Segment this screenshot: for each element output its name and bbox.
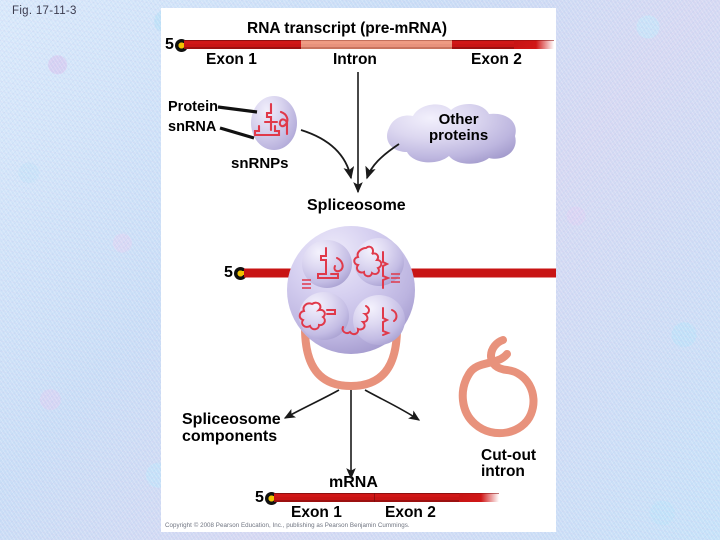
snrnp-join-arrow: [301, 130, 351, 178]
transcript-exon1-label: Exon 1: [206, 52, 257, 68]
spliceosome-label: Spliceosome: [307, 198, 406, 215]
spliceosome-exon2-strand: [397, 273, 556, 304]
cutout-line1: Cut-out: [481, 448, 536, 464]
mrna-exon2-bar: [374, 493, 459, 502]
spliceosome-body: [287, 226, 415, 354]
mrna-splice-junction: [374, 493, 375, 502]
spliceosome-snrnp-4: [353, 295, 405, 345]
protein-leader-line: [218, 107, 257, 112]
rna-transcript-title: RNA transcript (pre-mRNA): [247, 21, 447, 37]
cutout-line2: intron: [481, 464, 536, 480]
mrna-exon1-label: Exon 1: [291, 505, 342, 521]
spliceosome-snrnp-3: [299, 292, 349, 340]
protein-label: Protein: [168, 100, 218, 115]
transcript-exon2-fade: [514, 40, 554, 49]
cap-label: 5: [165, 36, 174, 54]
cap-label: 5: [224, 264, 233, 282]
spliceosome-snrnp-1: [302, 240, 352, 288]
spliceosome-snrna-squiggles: [300, 247, 397, 335]
mrna-exon2-label: Exon 2: [385, 505, 436, 521]
transcript-exon1-bar: [184, 40, 301, 49]
components-line2: components: [182, 429, 281, 446]
snrnps-label: snRNPs: [231, 156, 289, 172]
transcript-exon2-label: Exon 2: [471, 52, 522, 68]
spliceosome-exon1-strand: [244, 273, 305, 304]
five-prime-cap-icon: [234, 267, 247, 280]
spliceosome-snrnp-2: [354, 238, 404, 286]
snrna-leader-line: [220, 128, 254, 138]
mrna-exon2-fade: [459, 493, 499, 502]
cap-label: 5: [255, 489, 264, 507]
cutout-intron-lariat: [463, 354, 534, 433]
transcript-intron-bar: [301, 40, 452, 49]
flow-arrow-to-components: [285, 390, 339, 418]
cutout-intron-tail: [491, 340, 503, 356]
cutout-intron-label: Cut-out intron: [481, 448, 536, 481]
other-proteins-line1: Other: [429, 112, 488, 128]
other-proteins-line2: proteins: [429, 128, 488, 144]
base-pair-ticks: [302, 274, 400, 288]
figure-panel: RNA transcript (pre-mRNA) 5 Exon 1 Intro…: [161, 8, 556, 532]
spliceosome-components-label: Spliceosome components: [182, 412, 281, 446]
components-line1: Spliceosome: [182, 412, 281, 429]
mrna-label: mRNA: [329, 475, 378, 492]
spliceosome-intron-loop: [305, 290, 397, 386]
transcript-intron-label: Intron: [333, 52, 377, 68]
snrnp-particle: [251, 96, 297, 150]
figure-caption-label: Fig. 17-11-3: [12, 5, 77, 17]
spliceosome-five-prime-cap: 5: [224, 264, 247, 282]
transcript-exon2-bar: [452, 40, 514, 49]
snrna-label: snRNA: [168, 120, 216, 135]
mrna-exon1-bar: [274, 493, 374, 502]
copyright-notice: Copyright © 2008 Pearson Education, Inc.…: [165, 522, 410, 529]
flow-arrow-to-cutout-intron: [365, 390, 419, 420]
other-proteins-label: Other proteins: [429, 112, 488, 144]
